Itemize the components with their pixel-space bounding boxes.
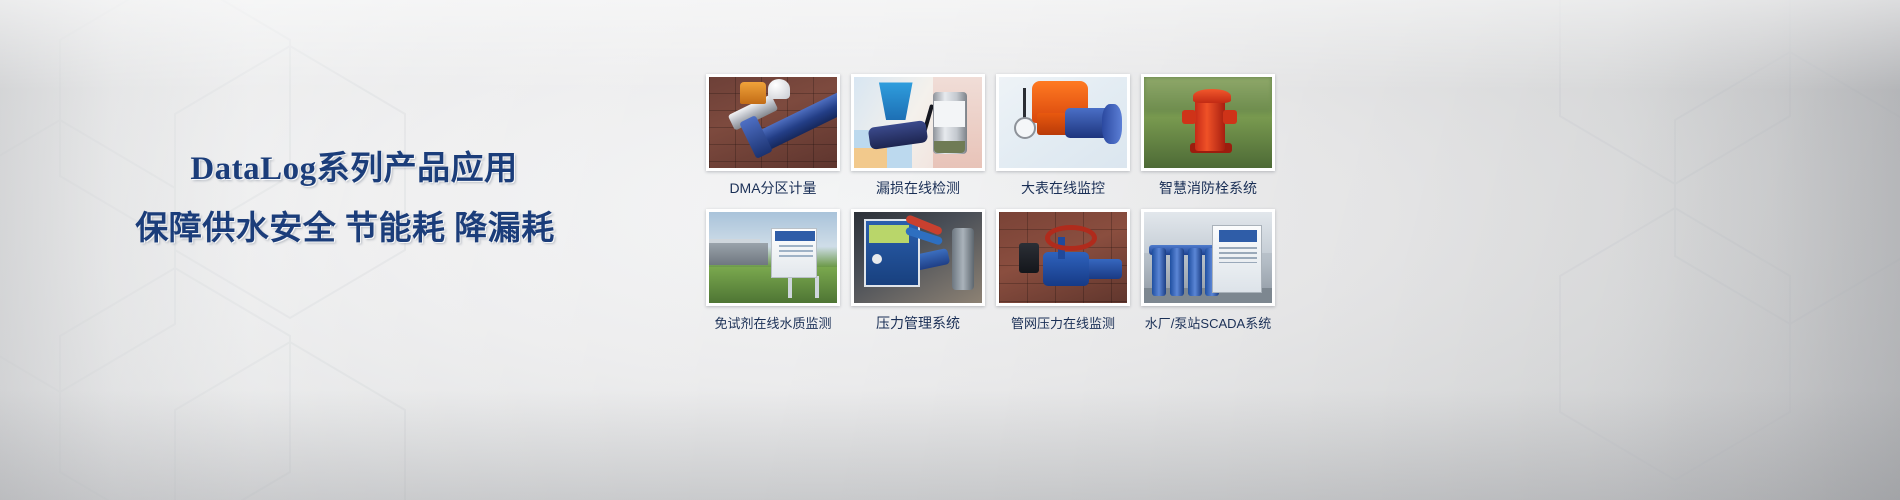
product-card-caption: 压力管理系统 <box>851 315 985 332</box>
pipe-network-pressure-photo <box>999 212 1127 303</box>
large-meter-monitoring-thumbnail[interactable] <box>996 74 1130 171</box>
large-meter-monitoring-photo <box>999 77 1127 168</box>
pressure-management-system-photo <box>854 212 982 303</box>
product-card-grid: DMA分区计量 漏损在线检测 <box>706 74 1286 332</box>
dma-zone-metering-thumbnail[interactable] <box>706 74 840 171</box>
waterworks-scada-system-thumbnail[interactable] <box>1141 209 1275 306</box>
product-card[interactable]: 漏损在线检测 <box>851 74 985 197</box>
background-bottom-shade <box>0 390 1900 500</box>
promo-banner: DataLog系列产品应用 保障供水安全 节能耗 降漏耗 DMA分区计量 <box>0 0 1900 500</box>
product-card-caption: 大表在线监控 <box>996 180 1130 197</box>
product-card-caption: DMA分区计量 <box>706 180 840 197</box>
headline-line-2: 保障供水安全 节能耗 降漏耗 <box>0 208 690 250</box>
product-card-caption: 智慧消防栓系统 <box>1141 180 1275 197</box>
waterworks-scada-system-photo <box>1144 212 1272 303</box>
product-card[interactable]: 智慧消防栓系统 <box>1141 74 1275 197</box>
product-card[interactable]: 水厂/泵站SCADA系统 <box>1141 209 1275 332</box>
headline-line-1: DataLog系列产品应用 <box>0 148 690 190</box>
leak-online-detection-photo <box>854 77 982 168</box>
pipe-network-pressure-thumbnail[interactable] <box>996 209 1130 306</box>
product-card[interactable]: 大表在线监控 <box>996 74 1130 197</box>
pressure-management-system-thumbnail[interactable] <box>851 209 985 306</box>
dma-zone-metering-photo <box>709 77 837 168</box>
product-card[interactable]: DMA分区计量 <box>706 74 840 197</box>
smart-hydrant-system-photo <box>1144 77 1272 168</box>
product-card[interactable]: 压力管理系统 <box>851 209 985 332</box>
headline-block: DataLog系列产品应用 保障供水安全 节能耗 降漏耗 <box>0 148 690 250</box>
reagent-free-water-quality-photo <box>709 212 837 303</box>
product-card[interactable]: 免试剂在线水质监测 <box>706 209 840 332</box>
product-card[interactable]: 管网压力在线监测 <box>996 209 1130 332</box>
leak-online-detection-thumbnail[interactable] <box>851 74 985 171</box>
product-card-caption: 漏损在线检测 <box>851 180 985 197</box>
product-card-caption: 水厂/泵站SCADA系统 <box>1141 315 1275 332</box>
product-card-caption: 管网压力在线监测 <box>996 315 1130 332</box>
smart-hydrant-system-thumbnail[interactable] <box>1141 74 1275 171</box>
reagent-free-water-quality-thumbnail[interactable] <box>706 209 840 306</box>
product-card-caption: 免试剂在线水质监测 <box>706 315 840 332</box>
